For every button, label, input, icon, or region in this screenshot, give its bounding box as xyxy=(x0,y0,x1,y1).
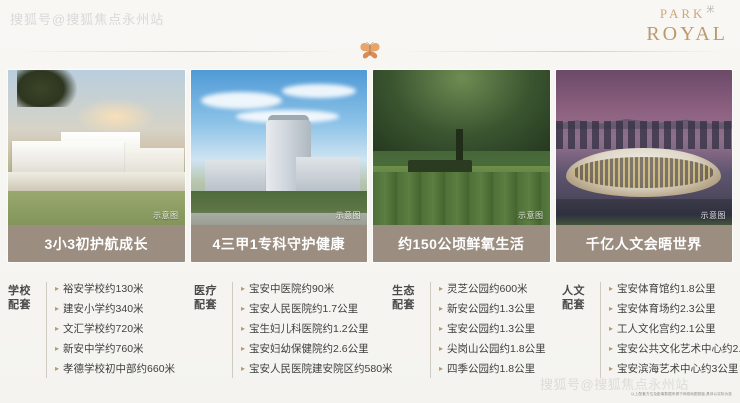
list-item: ▸宝安公园约1.3公里 xyxy=(439,319,562,339)
campus-podium xyxy=(8,172,185,192)
amenity-column-title: 人文 配套 xyxy=(562,274,596,312)
amenity-title-line1: 生态 xyxy=(392,284,426,298)
list-item-label: 新安中学约760米 xyxy=(63,339,144,359)
bullet-icon: ▸ xyxy=(241,345,245,353)
list-item: ▸宝安体育场约2.3公里 xyxy=(609,299,740,319)
photo-tag: 示意图 xyxy=(336,210,362,221)
section-divider xyxy=(0,51,740,53)
amenity-list: ▸裕安学校约130米 ▸建安小学约340米 ▸文汇学校约720米 ▸新安中学约7… xyxy=(55,274,194,379)
bullet-icon: ▸ xyxy=(241,305,245,313)
amenity-title-line2: 配套 xyxy=(562,298,596,312)
watermark-bottom: 搜狐号@搜狐焦点永州站 xyxy=(540,374,689,393)
brand-logo-park: PARK xyxy=(660,7,705,20)
list-item: ▸宝安妇幼保健院约2.6公里 xyxy=(241,339,393,359)
photo-tag: 示意图 xyxy=(153,210,179,221)
list-item: ▸裕安学校约130米 xyxy=(55,279,194,299)
amenity-column-medical: 医疗 配套 ▸宝安中医院约90米 ▸宝安人民医院约1.7公里 ▸宝生妇儿科医院约… xyxy=(194,274,392,386)
bullet-icon: ▸ xyxy=(241,365,245,373)
amenity-column-title: 医疗 配套 xyxy=(194,274,228,312)
column-divider xyxy=(232,282,233,378)
list-item-label: 宝安体育场约2.3公里 xyxy=(617,299,716,319)
list-item-label: 尖岗山公园约1.8公里 xyxy=(447,339,546,359)
amenity-column-school: 学校 配套 ▸裕安学校约130米 ▸建安小学约340米 ▸文汇学校约720米 ▸… xyxy=(8,274,194,386)
list-item-label: 工人文化宫约2.1公里 xyxy=(617,319,716,339)
amenity-column-title: 生态 配套 xyxy=(392,274,426,312)
list-item-label: 新安公园约1.3公里 xyxy=(447,299,535,319)
list-item: ▸宝生妇儿科医院约1.2公里 xyxy=(241,319,393,339)
feature-card-caption: 千亿人文会晤世界 xyxy=(556,225,733,262)
list-item-label: 宝安妇幼保健院约2.6公里 xyxy=(249,339,369,359)
bullet-icon: ▸ xyxy=(439,365,443,373)
amenity-list: ▸宝安中医院约90米 ▸宝安人民医院约1.7公里 ▸宝生妇儿科医院约1.2公里 … xyxy=(241,274,393,379)
amenity-info-table: 学校 配套 ▸裕安学校约130米 ▸建安小学约340米 ▸文汇学校约720米 ▸… xyxy=(8,274,732,386)
watermark-top: 搜狐号@搜狐焦点永州站 xyxy=(10,9,164,28)
bullet-icon: ▸ xyxy=(55,285,59,293)
bullet-icon: ▸ xyxy=(609,305,613,313)
feature-card-caption: 约150公顷鲜氧生活 xyxy=(373,225,550,262)
list-item-label: 四季公园约1.8公里 xyxy=(447,359,535,379)
school-campus-photo: 示意图 xyxy=(8,70,185,225)
list-item-label: 宝安中医院约90米 xyxy=(249,279,334,299)
hospital-photo: 示意图 xyxy=(191,70,368,225)
bullet-icon: ▸ xyxy=(439,325,443,333)
amenity-title-line1: 学校 xyxy=(8,284,42,298)
amenity-title-line1: 人文 xyxy=(562,284,596,298)
list-item: ▸宝安人民医院建安院区约580米 xyxy=(241,359,393,379)
list-item-label: 宝安人民医院建安院区约580米 xyxy=(249,359,393,379)
list-item: ▸工人文化宫约2.1公里 xyxy=(609,319,740,339)
cloud-shape xyxy=(282,84,356,98)
column-divider xyxy=(430,282,431,378)
divider-line-left xyxy=(14,51,344,52)
list-item: ▸宝安中医院约90米 xyxy=(241,279,393,299)
list-item: ▸孝德学校初中部约660米 xyxy=(55,359,194,379)
hospital-wing-right xyxy=(296,157,360,194)
list-item-label: 宝安人民医院约1.7公里 xyxy=(249,299,358,319)
hospital-wing-left xyxy=(205,160,265,194)
photo-tag: 示意图 xyxy=(701,210,727,221)
butterfly-icon xyxy=(359,42,381,60)
bullet-icon: ▸ xyxy=(609,365,613,373)
brand-logo-royal: ROYAL xyxy=(646,24,728,44)
list-item-label: 宝生妇儿科医院约1.2公里 xyxy=(249,319,369,339)
feature-card-school[interactable]: 示意图 3小3初护航成长 xyxy=(8,70,185,262)
amenity-list: ▸宝安体育馆约1.8公里 ▸宝安体育场约2.3公里 ▸工人文化宫约2.1公里 ▸… xyxy=(609,274,740,379)
column-divider xyxy=(46,282,47,378)
amenity-title-line2: 配套 xyxy=(194,298,228,312)
list-item-label: 建安小学约340米 xyxy=(63,299,144,319)
list-item-label: 宝安公园约1.3公里 xyxy=(447,319,535,339)
stadium-night-photo: 示意图 xyxy=(556,70,733,225)
brand-logo-mark: 米 xyxy=(706,5,714,14)
park-greenery-photo: 示意图 xyxy=(373,70,550,225)
sun-glow xyxy=(75,98,156,135)
amenity-column-culture: 人文 配套 ▸宝安体育馆约1.8公里 ▸宝安体育场约2.3公里 ▸工人文化宫约2… xyxy=(562,274,732,386)
amenity-column-title: 学校 配套 xyxy=(8,274,42,312)
list-item: ▸宝安人民医院约1.7公里 xyxy=(241,299,393,319)
brand-logo-line1-row: PARK米 xyxy=(646,6,728,22)
bullet-icon: ▸ xyxy=(609,325,613,333)
photo-tag: 示意图 xyxy=(518,210,544,221)
feature-card-park[interactable]: 示意图 约150公顷鲜氧生活 xyxy=(373,70,550,262)
list-item: ▸新安中学约760米 xyxy=(55,339,194,359)
list-item: ▸尖岗山公园约1.8公里 xyxy=(439,339,562,359)
feature-card-caption: 4三甲1专科守护健康 xyxy=(191,225,368,262)
amenity-title-line2: 配套 xyxy=(8,298,42,312)
divider-line-right xyxy=(396,51,726,52)
cloud-shape xyxy=(201,92,282,109)
list-item: ▸新安公园约1.3公里 xyxy=(439,299,562,319)
promo-page: 搜狐号@搜狐焦点永州站 PARK米 ROYAL xyxy=(0,0,740,403)
bullet-icon: ▸ xyxy=(55,345,59,353)
amenity-title-line2: 配套 xyxy=(392,298,426,312)
bullet-icon: ▸ xyxy=(609,285,613,293)
list-item-label: 宝安公共文化艺术中心约2.1公里 xyxy=(617,339,740,359)
city-skyline xyxy=(556,121,733,149)
column-divider xyxy=(600,282,601,378)
bullet-icon: ▸ xyxy=(609,345,613,353)
amenity-title-line1: 医疗 xyxy=(194,284,228,298)
feature-card-caption: 3小3初护航成长 xyxy=(8,225,185,262)
list-item: ▸宝安公共文化艺术中心约2.1公里 xyxy=(609,339,740,359)
foreground-tree xyxy=(17,70,77,107)
feature-card-row: 示意图 3小3初护航成长 示意图 4三甲1专科守护健康 xyxy=(8,70,732,262)
brand-logo: PARK米 ROYAL xyxy=(646,6,728,44)
list-item-label: 文汇学校约720米 xyxy=(63,319,144,339)
list-item: ▸建安小学约340米 xyxy=(55,299,194,319)
bullet-icon: ▸ xyxy=(241,285,245,293)
bullet-icon: ▸ xyxy=(55,365,59,373)
list-item: ▸文汇学校约720米 xyxy=(55,319,194,339)
amenity-column-ecology: 生态 配套 ▸灵芝公园约600米 ▸新安公园约1.3公里 ▸宝安公园约1.3公里… xyxy=(392,274,562,386)
list-item-label: 孝德学校初中部约660米 xyxy=(63,359,175,379)
bullet-icon: ▸ xyxy=(439,305,443,313)
feature-card-hospital[interactable]: 示意图 4三甲1专科守护健康 xyxy=(191,70,368,262)
bullet-icon: ▸ xyxy=(439,285,443,293)
list-item: ▸灵芝公园约600米 xyxy=(439,279,562,299)
bullet-icon: ▸ xyxy=(241,325,245,333)
disclaimer-text: 以上配套方位及距离数据来源于网络地图测距,具体以实际为准 xyxy=(497,392,732,397)
stadium-facade xyxy=(573,157,714,188)
list-item-label: 宝安体育馆约1.8公里 xyxy=(617,279,716,299)
list-item-label: 灵芝公园约600米 xyxy=(447,279,528,299)
bullet-icon: ▸ xyxy=(439,345,443,353)
list-item-label: 裕安学校约130米 xyxy=(63,279,144,299)
feature-card-stadium[interactable]: 示意图 千亿人文会晤世界 xyxy=(556,70,733,262)
bullet-icon: ▸ xyxy=(55,325,59,333)
list-item: ▸宝安体育馆约1.8公里 xyxy=(609,279,740,299)
amenity-list: ▸灵芝公园约600米 ▸新安公园约1.3公里 ▸宝安公园约1.3公里 ▸尖岗山公… xyxy=(439,274,562,379)
bullet-icon: ▸ xyxy=(55,305,59,313)
